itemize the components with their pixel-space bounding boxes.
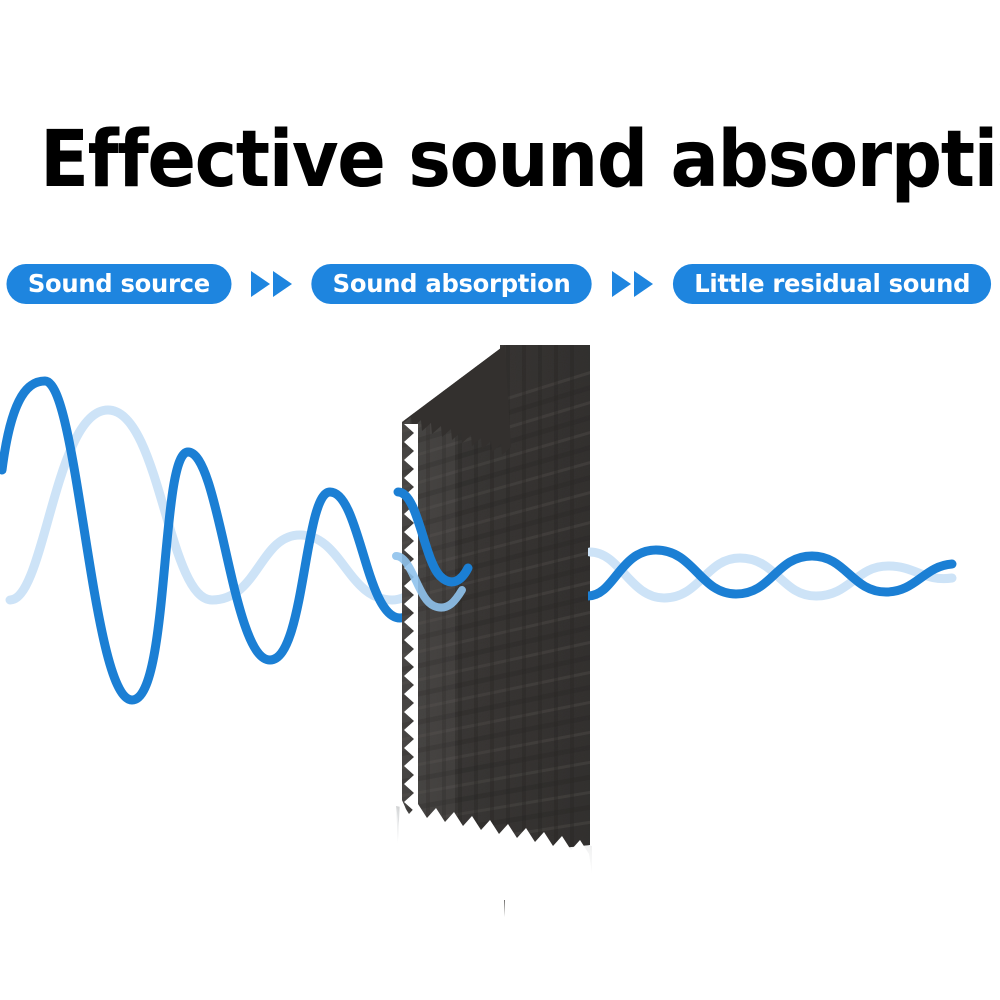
absorption-illustration (0, 0, 1000, 1000)
acoustic-foam-panel (395, 335, 600, 917)
promo-banner: Effective sound absorption Sound source … (0, 0, 1000, 1000)
incoming-wave-primary (2, 381, 440, 700)
